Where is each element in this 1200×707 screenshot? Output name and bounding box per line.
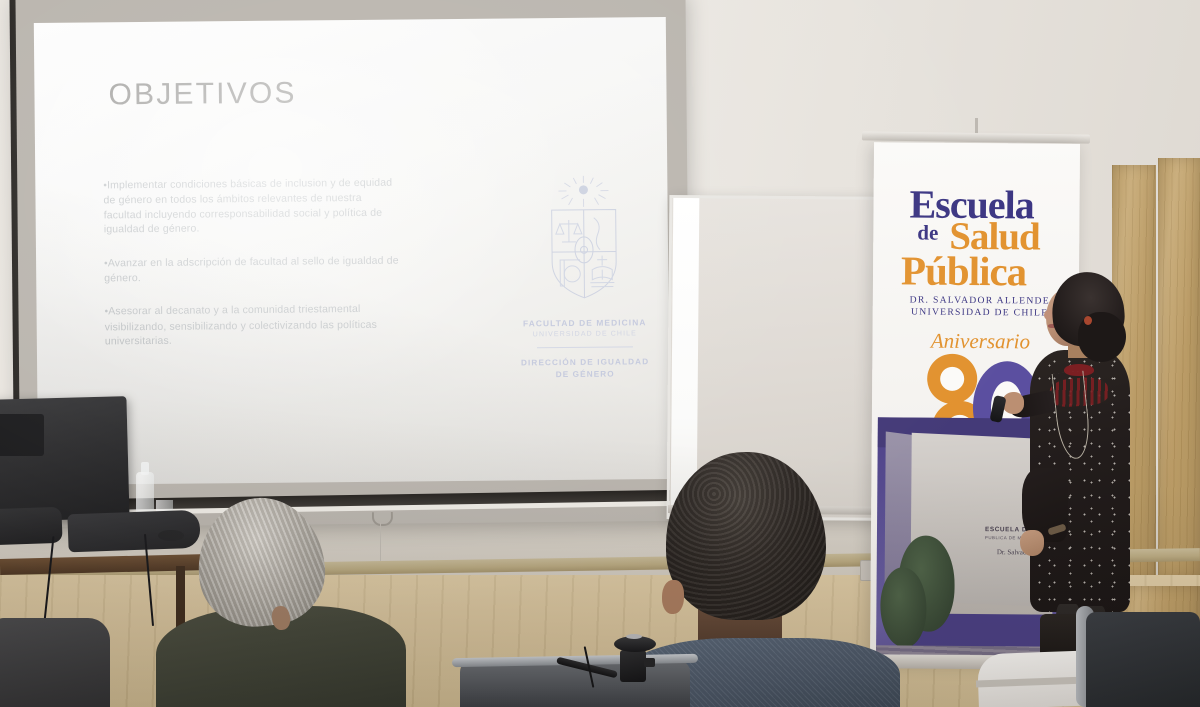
audience-ear — [662, 580, 684, 614]
camera-top-highlight — [626, 634, 642, 639]
wood-wall-panel — [1158, 158, 1200, 578]
foreground-chair-right — [1086, 612, 1200, 707]
audience-member-grey-hair — [176, 498, 390, 707]
monitor-vesa-plate — [0, 414, 44, 456]
banner-word-publica: Pública — [901, 250, 1026, 292]
audience-hair-texture — [666, 452, 826, 620]
photo-tree — [880, 567, 927, 647]
banner-word-de: de — [917, 223, 938, 244]
presenter-earring — [1084, 316, 1092, 325]
screen-light-falloff — [34, 17, 670, 485]
presenter-lower-hand — [1020, 530, 1044, 556]
chair-back — [0, 618, 110, 707]
presentation-room-photo: OBJETIVOS •Implementar condiciones básic… — [0, 0, 1200, 707]
camera-mount-body — [620, 650, 646, 682]
camera-mount-knob[interactable] — [644, 658, 655, 667]
